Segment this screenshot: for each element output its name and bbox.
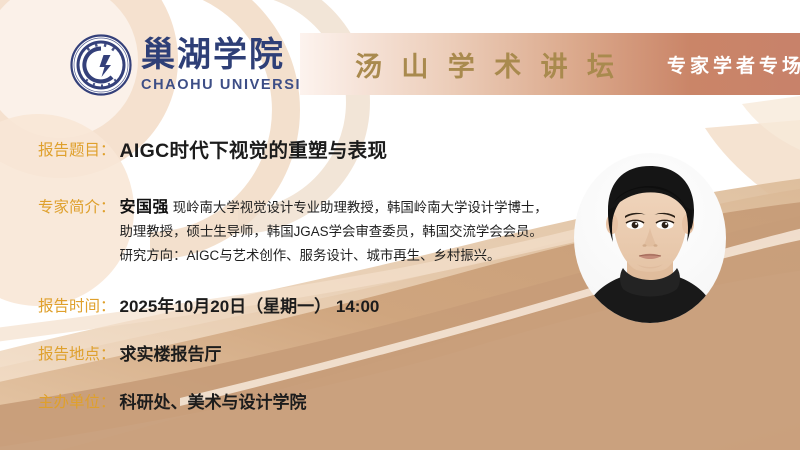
poster-canvas: 巢湖学院 CHAOHU UNIVERSITY 汤 山 学 术 讲 坛 专家学者专… [0, 0, 800, 450]
banner-title: 汤 山 学 术 讲 坛 [355, 45, 619, 84]
report-host-row: 主办单位： 科研处、美术与设计学院 [38, 390, 598, 416]
university-logo-block: 巢湖学院 CHAOHU UNIVERSITY [70, 34, 323, 96]
report-time-row: 报告时间： 2025年10月20日（星期一） 14:00 [38, 294, 598, 320]
report-title-row: 报告题目： AIGC时代下视觉的重塑与表现 [38, 138, 598, 164]
university-name-en: CHAOHU UNIVERSITY [141, 78, 323, 93]
poster-header: 巢湖学院 CHAOHU UNIVERSITY 汤 山 学 术 讲 坛 专家学者专… [0, 0, 800, 118]
banner-subtitle: 专家学者专场 [667, 51, 800, 78]
report-host-value: 科研处、美术与设计学院 [120, 390, 307, 416]
event-banner: 汤 山 学 术 讲 坛 专家学者专场 [300, 33, 800, 95]
poster-content: 报告题目： AIGC时代下视觉的重塑与表现 专家简介： 安国强 现岭南大学视觉设… [38, 128, 598, 416]
speaker-bio-label: 专家简介： [38, 196, 116, 220]
speaker-bio-line-3: 研究方向：AIGC与艺术创作、服务设计、城市再生、乡村振兴。 [120, 244, 568, 268]
speaker-bio-line-2: 助理教授，硕士生导师，韩国JGAS学会审查委员，韩国交流学会会员。 [120, 220, 568, 244]
report-place-row: 报告地点： 求实楼报告厅 [38, 342, 598, 368]
report-host-label: 主办单位： [38, 390, 116, 416]
speaker-bio-body: 安国强 现岭南大学视觉设计专业助理教授，韩国岭南大学设计学博士， 助理教授，硕士… [120, 196, 568, 268]
report-place-label: 报告地点： [38, 342, 116, 368]
speaker-name: 安国强 [120, 199, 170, 216]
report-title-label: 报告题目： [38, 138, 116, 164]
report-title-value: AIGC时代下视觉的重塑与表现 [120, 138, 388, 164]
report-time-label: 报告时间： [38, 294, 116, 320]
chaohu-university-seal-icon [70, 34, 132, 96]
university-name-cn: 巢湖学院 [141, 38, 323, 72]
university-name-block: 巢湖学院 CHAOHU UNIVERSITY [141, 38, 323, 93]
report-place-value: 求实楼报告厅 [120, 342, 222, 368]
report-time-value: 2025年10月20日（星期一） 14:00 [120, 294, 380, 320]
speaker-bio-line-1: 安国强 现岭南大学视觉设计专业助理教授，韩国岭南大学设计学博士， [120, 200, 548, 215]
speaker-bio-row: 专家简介： 安国强 现岭南大学视觉设计专业助理教授，韩国岭南大学设计学博士， 助… [38, 196, 598, 268]
speaker-bio-text-1: 现岭南大学视觉设计专业助理教授，韩国岭南大学设计学博士， [173, 200, 548, 215]
